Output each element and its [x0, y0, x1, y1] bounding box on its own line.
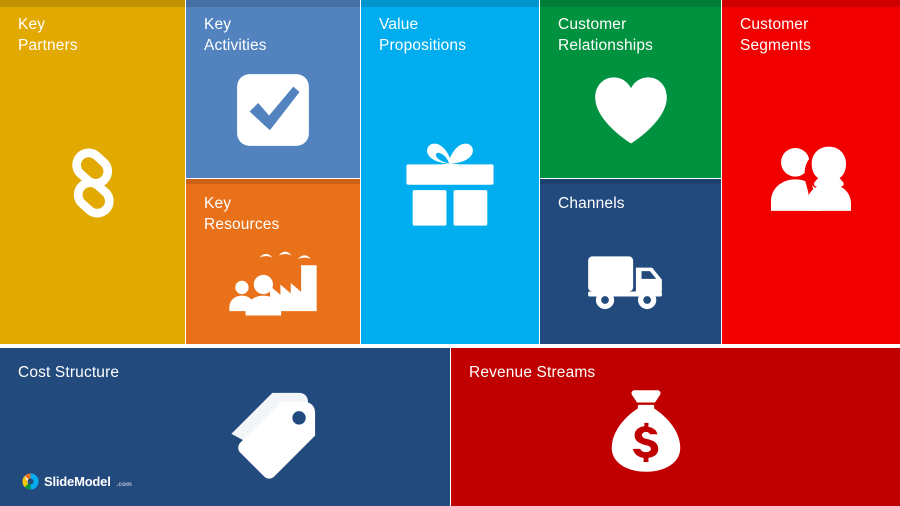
slidemodel-logo-mark — [22, 473, 39, 490]
panel-channels[interactable]: Channels — [540, 179, 721, 344]
panel-key-activities[interactable]: Key Activities — [186, 0, 360, 178]
panel-title-cost-structure: Cost Structure — [18, 362, 119, 383]
panel-key-resources[interactable]: Key Resources — [186, 179, 360, 344]
panel-title-value-propositions: Value Propositions — [379, 14, 466, 56]
panel-title-channels: Channels — [558, 193, 625, 214]
panel-value-propositions[interactable]: Value Propositions — [361, 0, 539, 344]
money-bag-icon — [576, 376, 716, 486]
panel-revenue-streams[interactable]: Revenue Streams — [451, 348, 900, 506]
panel-title-customer-segments: Customer Segments — [740, 14, 811, 56]
two-people-icon — [722, 118, 900, 238]
heart-icon — [540, 62, 721, 158]
panel-key-partners[interactable]: Key Partners — [0, 0, 185, 344]
panel-title-customer-relationships: Customer Relationships — [558, 14, 653, 56]
checkmark-box-icon — [186, 60, 360, 160]
chain-link-icon — [0, 118, 185, 248]
gift-box-icon — [361, 120, 539, 246]
factory-people-icon — [186, 233, 360, 333]
slidemodel-logo-tld: .com — [117, 481, 132, 488]
slidemodel-logo: SlideModel .com — [22, 473, 132, 490]
panel-customer-segments[interactable]: Customer Segments — [722, 0, 900, 344]
price-tag-icon — [195, 378, 355, 488]
business-model-canvas: Key Partners Key Activities Key Resource… — [0, 0, 900, 506]
panel-customer-relationships[interactable]: Customer Relationships — [540, 0, 721, 178]
panel-title-key-resources: Key Resources — [204, 193, 279, 235]
panel-title-key-partners: Key Partners — [18, 14, 78, 56]
panel-title-key-activities: Key Activities — [204, 14, 267, 56]
panel-cost-structure[interactable]: Cost Structure — [0, 348, 450, 506]
delivery-truck-icon — [540, 231, 721, 331]
slidemodel-logo-text: SlideModel — [44, 474, 111, 489]
